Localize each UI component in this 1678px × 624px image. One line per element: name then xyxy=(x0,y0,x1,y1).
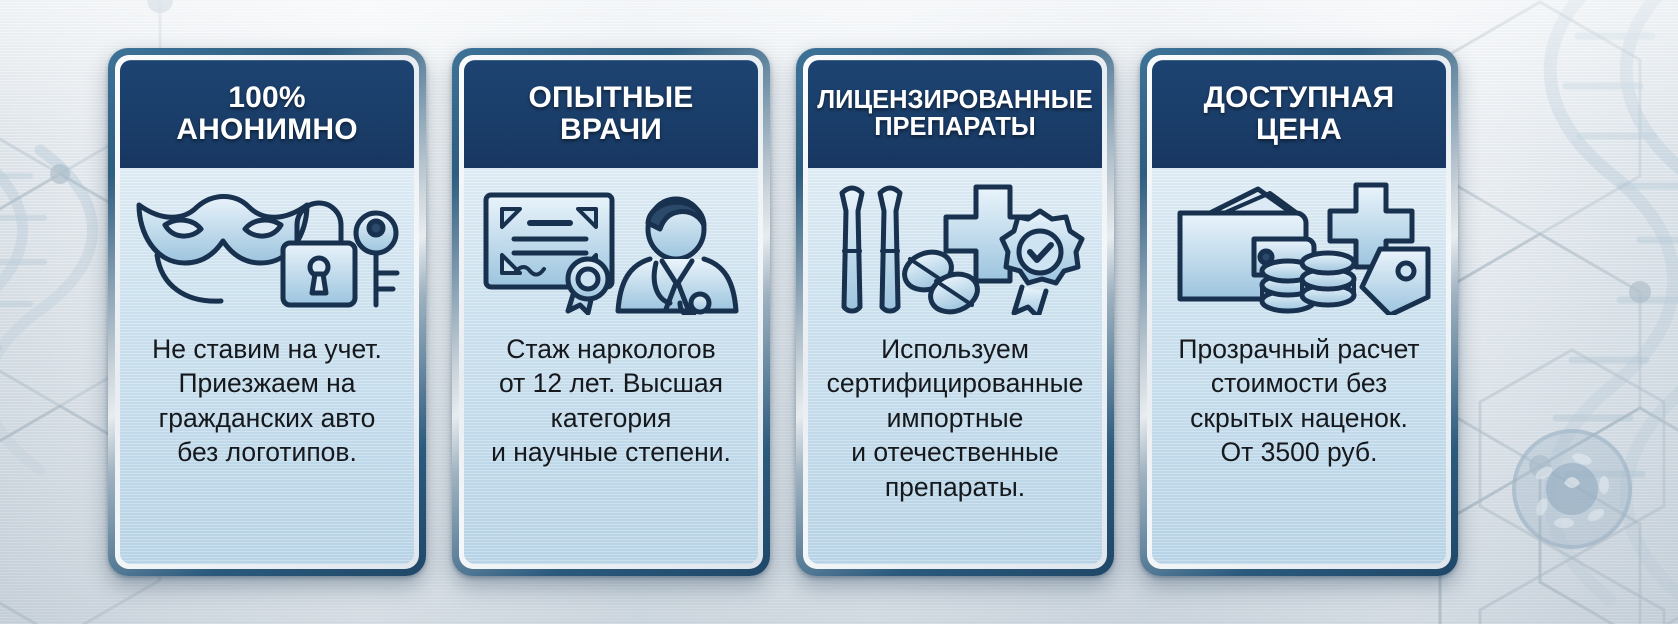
card-header-affordable-price: ДОСТУПНАЯ ЦЕНА xyxy=(1152,60,1446,168)
card-description: Не ставим на учет. Приезжаем на гражданс… xyxy=(152,332,382,470)
card-header-experienced-doctors: ОПЫТНЫЕ ВРАЧИ xyxy=(464,60,758,168)
card-title: ДОСТУПНАЯ ЦЕНА xyxy=(1204,82,1395,146)
feature-card-experienced-doctors[interactable]: ОПЫТНЫЕ ВРАЧИ xyxy=(452,48,770,576)
card-icon-group-doctors xyxy=(464,168,758,326)
key-icon xyxy=(356,213,397,305)
card-face: ДОСТУПНАЯ ЦЕНА xyxy=(1152,60,1446,564)
card-body: Используем сертифицированные импортные и… xyxy=(808,168,1102,564)
card-inner-bevel: ЛИЦЕНЗИРОВАННЫЕ ПРЕПАРАТЫ xyxy=(803,55,1107,569)
card-description: Прозрачный расчет стоимости без скрытых … xyxy=(1178,332,1419,470)
card-icon-group-drugs xyxy=(808,168,1102,326)
card-title: ОПЫТНЫЕ ВРАЧИ xyxy=(528,82,693,146)
card-inner-bevel: 100% АНОНИМНО xyxy=(115,55,419,569)
card-face: 100% АНОНИМНО xyxy=(120,60,414,564)
card-text-wrap: Используем сертифицированные импортные и… xyxy=(808,326,1102,564)
coins-icon xyxy=(1262,253,1354,311)
card-description: Стаж наркологов от 12 лет. Высшая катего… xyxy=(491,332,731,470)
card-text-wrap: Не ставим на учет. Приезжаем на гражданс… xyxy=(120,326,414,564)
card-header-anonymity: 100% АНОНИМНО xyxy=(120,60,414,168)
card-header-licensed-drugs: ЛИЦЕНЗИРОВАННЫЕ ПРЕПАРАТЫ xyxy=(808,60,1102,168)
doctor-stethoscope-icon xyxy=(618,199,736,315)
card-inner-bevel: ОПЫТНЫЕ ВРАЧИ xyxy=(459,55,763,569)
diploma-certificate-icon xyxy=(486,195,612,313)
card-body: Не ставим на учет. Приезжаем на гражданс… xyxy=(120,168,414,564)
card-icon-group-price xyxy=(1152,168,1446,326)
quality-badge-check-icon xyxy=(1002,211,1082,315)
feature-card-anonymity[interactable]: 100% АНОНИМНО xyxy=(108,48,426,576)
card-icon-group-anonymity xyxy=(120,168,414,326)
card-face: ОПЫТНЫЕ ВРАЧИ xyxy=(464,60,758,564)
card-description: Используем сертифицированные импортные и… xyxy=(827,332,1084,504)
card-body: Прозрачный расчет стоимости без скрытых … xyxy=(1152,168,1446,564)
card-inner-bevel: ДОСТУПНАЯ ЦЕНА xyxy=(1147,55,1451,569)
card-title: ЛИЦЕНЗИРОВАННЫЕ ПРЕПАРАТЫ xyxy=(817,87,1092,142)
feature-card-affordable-price[interactable]: ДОСТУПНАЯ ЦЕНА xyxy=(1140,48,1458,576)
card-text-wrap: Прозрачный расчет стоимости без скрытых … xyxy=(1152,326,1446,564)
feature-card-licensed-drugs[interactable]: ЛИЦЕНЗИРОВАННЫЕ ПРЕПАРАТЫ xyxy=(796,48,1114,576)
card-body: Стаж наркологов от 12 лет. Высшая катего… xyxy=(464,168,758,564)
card-face: ЛИЦЕНЗИРОВАННЫЕ ПРЕПАРАТЫ xyxy=(808,60,1102,564)
ampoule-icon xyxy=(842,188,900,311)
feature-card-row: 100% АНОНИМНО xyxy=(0,0,1678,624)
card-text-wrap: Стаж наркологов от 12 лет. Высшая катего… xyxy=(464,326,758,564)
pills-icon xyxy=(899,246,982,315)
card-title: 100% АНОНИМНО xyxy=(176,82,357,146)
promo-banner: 100% АНОНИМНО xyxy=(0,0,1678,624)
